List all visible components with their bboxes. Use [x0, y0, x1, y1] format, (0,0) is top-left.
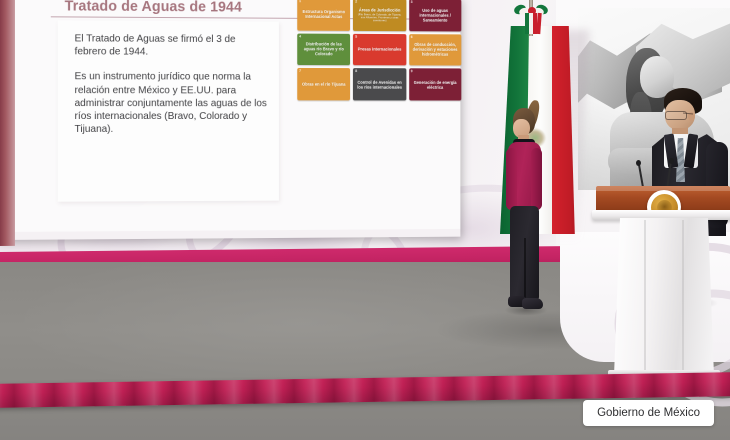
- topic-label: Obras en el río Tijuana: [302, 82, 345, 87]
- topic-label: Áreas de Jurisdicción (Río Bravo, de Col…: [356, 7, 403, 22]
- podium-fold-line: [682, 220, 684, 372]
- microphone-head-icon: [669, 158, 674, 164]
- topic-number: 2: [355, 0, 357, 4]
- topic-number: 6: [411, 35, 413, 39]
- topic-number: 7: [299, 69, 301, 73]
- bow-ribbon-tail: [536, 13, 541, 34]
- topic-box: 9 Generación de energía eléctrica: [409, 69, 461, 101]
- shoe: [522, 298, 543, 309]
- podium-fold-line: [644, 220, 646, 374]
- slide-content: Tratado de Aguas de 1944 El Tratado de A…: [15, 0, 460, 232]
- topic-box: 3 Uso de aguas internacionales / Saneami…: [409, 0, 461, 31]
- topic-number: 8: [355, 69, 357, 73]
- topic-number: 4: [299, 34, 301, 38]
- topic-box: 2 Áreas de Jurisdicción (Río Bravo, de C…: [353, 0, 406, 31]
- topic-label: Uso de aguas internacionales / Saneamien…: [412, 8, 459, 23]
- leg-separation: [524, 238, 526, 300]
- microphone-head-icon: [636, 160, 641, 166]
- topic-box: 7 Obras en el río Tijuana: [297, 68, 350, 100]
- topic-box: 4 Distribución de las aguas río Bravo y …: [297, 33, 350, 65]
- topic-label-main: Áreas de Jurisdicción: [359, 7, 401, 12]
- projection-screen: Tratado de Aguas de 1944 El Tratado de A…: [0, 0, 462, 244]
- presidential-podium: [596, 186, 730, 386]
- topic-number: 5: [355, 34, 357, 38]
- topic-box: 5 Presas internacionales: [353, 34, 406, 66]
- topic-label: Presas internacionales: [358, 47, 402, 52]
- topic-label: Generación de energía eléctrica: [412, 80, 459, 90]
- slide-paragraph-2: Es un instrumento jurídico que norma la …: [75, 71, 270, 137]
- topic-number: 3: [411, 0, 413, 4]
- topic-box: 1 Estructura Organismo Internacional Act…: [297, 0, 350, 31]
- slide-paragraph-1: El Tratado de Aguas se firmó el 3 de feb…: [75, 32, 270, 59]
- gobierno-de-mexico-watermark: Gobierno de México: [583, 400, 714, 426]
- topic-label: Control de Avenidas en los ríos internac…: [356, 80, 403, 90]
- treaty-topic-grid: 1 Estructura Organismo Internacional Act…: [297, 0, 461, 101]
- screen-surface: Tratado de Aguas de 1944 El Tratado de A…: [0, 0, 460, 240]
- arm: [531, 148, 542, 210]
- tricolor-ribbon-bow: [512, 0, 552, 34]
- topic-number: 9: [411, 70, 413, 74]
- topic-label: Obras de conducción, derivación y estaci…: [412, 42, 459, 57]
- topic-number: 1: [299, 0, 301, 3]
- broadcast-frame: Tratado de Aguas de 1944 El Tratado de A…: [0, 0, 730, 440]
- arm: [506, 148, 517, 210]
- podium-column: [614, 218, 714, 376]
- topic-label-sub: (Río Bravo, de Colorado, de Tijuana, sus…: [356, 13, 403, 22]
- topic-box: 6 Obras de conducción, derivación y esta…: [409, 34, 461, 66]
- screen-left-edge: [0, 0, 15, 246]
- slide-text-block: El Tratado de Aguas se firmó el 3 de feb…: [58, 20, 279, 201]
- topic-label: Distribución de las aguas río Bravo y rí…: [300, 42, 347, 57]
- topic-label: Estructura Organismo Internacional Actas: [300, 9, 347, 19]
- topic-box: 8 Control de Avenidas en los ríos intern…: [353, 68, 406, 100]
- woman-by-flag: [498, 106, 552, 316]
